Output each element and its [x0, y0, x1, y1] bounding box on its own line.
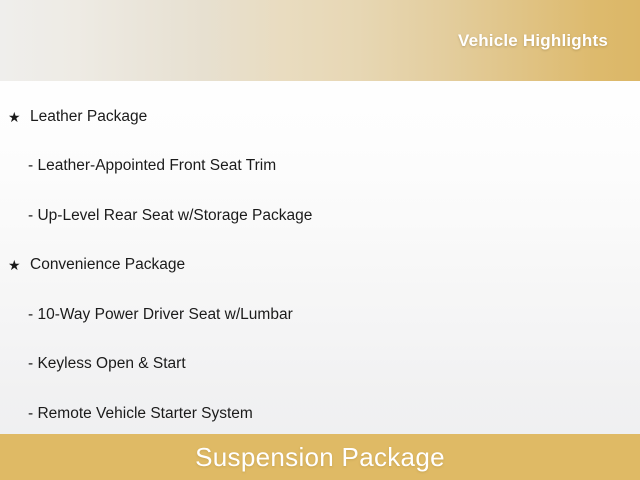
highlight-item-label: - Remote Vehicle Starter System	[28, 405, 253, 423]
highlight-item-row: - 10-Way Power Driver Seat w/Lumbar	[0, 290, 640, 340]
highlight-item-label: - 10-Way Power Driver Seat w/Lumbar	[28, 306, 293, 324]
highlight-group-label: Convenience Package	[30, 256, 185, 274]
header-banner: Vehicle Highlights	[0, 0, 640, 81]
highlight-item-row: - Keyless Open & Start	[0, 340, 640, 390]
highlight-group-row: ★ Convenience Package	[0, 241, 640, 291]
highlight-item-row: - Up-Level Rear Seat w/Storage Package	[0, 191, 640, 241]
star-icon: ★	[8, 258, 30, 272]
highlight-item-label: - Up-Level Rear Seat w/Storage Package	[28, 207, 312, 225]
star-icon: ★	[8, 110, 30, 124]
footer-banner: Suspension Package	[0, 434, 640, 480]
highlight-item-label: - Keyless Open & Start	[28, 355, 186, 373]
highlight-group-row: ★ Leather Package	[0, 92, 640, 142]
highlights-list: ★ Leather Package - Leather-Appointed Fr…	[0, 81, 640, 434]
highlight-item-row: - Remote Vehicle Starter System	[0, 389, 640, 439]
footer-title: Suspension Package	[195, 442, 445, 473]
highlight-item-row: - Leather-Appointed Front Seat Trim	[0, 142, 640, 192]
page-title: Vehicle Highlights	[458, 31, 640, 51]
highlight-group-label: Leather Package	[30, 108, 147, 126]
highlight-item-label: - Leather-Appointed Front Seat Trim	[28, 157, 276, 175]
